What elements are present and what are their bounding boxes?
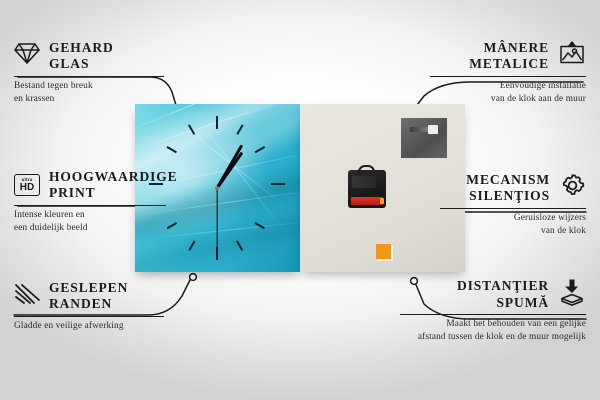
feature-subtitle-line2: afstand tussen de klok en de muur mogeli… <box>400 331 586 343</box>
clock-tick <box>271 183 285 185</box>
infographic-canvas: GEHARD GLAS Bestand tegen breuk en krass… <box>0 0 600 400</box>
metal-hanger-plate <box>401 118 447 158</box>
feature-title-line2: PRINT <box>49 185 178 201</box>
feature-gehard-glas: GEHARD GLAS Bestand tegen breuk en krass… <box>14 40 184 105</box>
ultra-hd-large-text: HD <box>20 183 34 193</box>
feature-subtitle-line2: en krassen <box>14 93 184 105</box>
feature-title-line1: GEHARD <box>49 40 114 56</box>
diagonal-edges-icon <box>14 283 40 310</box>
feature-title-line1: DISTANŢIER <box>457 278 549 294</box>
feature-mecanism-silentios: MECANISM SILENŢIOS Geruisloze wijzers va… <box>440 172 586 237</box>
picture-hanger-icon <box>558 41 586 72</box>
feature-title-line1: HOOGWAARDIGE <box>49 169 178 185</box>
quartz-mechanism-box <box>348 170 386 208</box>
feature-subtitle-line1: Geruisloze wijzers <box>440 212 586 224</box>
clock-second-hand <box>216 189 217 251</box>
feature-distantier-spuma: DISTANŢIER SPUMĂ Maakt het behouden van … <box>400 278 586 343</box>
feature-geslepen-randen: GESLEPEN RANDEN Gladde en veilige afwerk… <box>14 280 194 333</box>
feature-title-line1: MÂNERE <box>469 40 549 56</box>
feature-subtitle-line2: een duidelijk beeld <box>14 222 194 234</box>
feature-title-line2: RANDEN <box>49 296 128 312</box>
gear-icon <box>559 172 586 204</box>
clock-center-cap <box>215 186 219 190</box>
feature-subtitle-line1: Eenvoudige installatie <box>430 80 586 92</box>
feature-title-line1: MECANISM <box>466 172 550 188</box>
diamond-icon <box>14 42 40 70</box>
feature-title-line2: SPUMĂ <box>457 295 549 311</box>
feature-subtitle-line2: van de klok <box>440 225 586 237</box>
feature-subtitle-line1: Gladde en veilige afwerking <box>14 320 194 332</box>
feature-title-line2: GLAS <box>49 56 114 72</box>
ultra-hd-badge-icon: ultra HD <box>14 174 40 196</box>
feature-subtitle-line1: Intense kleuren en <box>14 209 194 221</box>
feature-subtitle-line1: Bestand tegen breuk <box>14 80 184 92</box>
clock-tick <box>216 116 218 129</box>
feature-subtitle-line1: Maakt het behouden van een gelijke <box>400 318 586 330</box>
feature-manere-metalice: MÂNERE METALICE Eenvoudige installatie v… <box>430 40 586 105</box>
feature-hoogwaardige-print: ultra HD HOOGWAARDIGE PRINT Intense kleu… <box>14 169 194 234</box>
feature-title-line2: METALICE <box>469 56 549 72</box>
feature-subtitle-line2: van de klok aan de muur <box>430 93 586 105</box>
foam-spacer <box>376 244 391 259</box>
feature-title-line2: SILENŢIOS <box>466 188 550 204</box>
feature-title-line1: GESLEPEN <box>49 280 128 296</box>
spacer-press-icon <box>558 278 586 311</box>
